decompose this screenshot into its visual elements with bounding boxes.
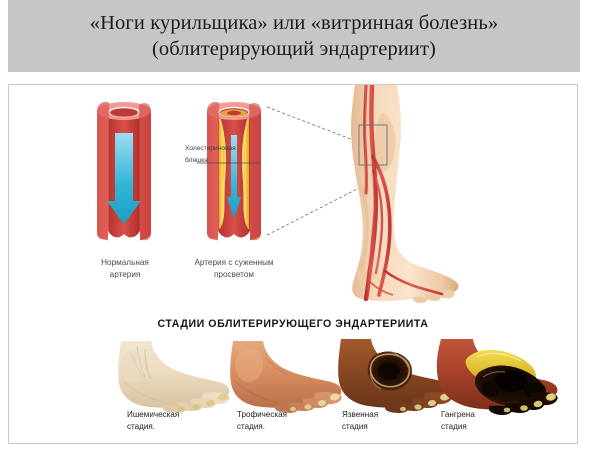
page-title: «Ноги курильщика» или «витринная болезнь… <box>80 10 508 62</box>
stage-ischemic-foot <box>107 337 235 415</box>
leg-graphic <box>309 85 509 323</box>
stage-gangrene-caption: Гангрена стадия <box>441 409 475 432</box>
stages-heading: СТАДИИ ОБЛИТЕРИРУЮЩЕГО ЭНДАРТЕРИИТА <box>9 318 577 330</box>
stage-gangrene-foot <box>427 333 562 417</box>
header-band: «Ноги курильщика» или «витринная болезнь… <box>8 0 580 72</box>
stage-ischemic-caption: Ишемическая стадия. <box>127 409 179 432</box>
cholesterol-plaque-label: Холестириновая бляшка <box>185 143 271 166</box>
stage-trophic-caption: Трофическая стадия. <box>237 409 287 432</box>
stage-ulcerative-caption: Язвенная стадия <box>342 409 378 432</box>
leg-illustration <box>309 85 509 323</box>
foot-graphic-ischemic <box>107 337 235 415</box>
foot-graphic-gangrene <box>427 333 562 417</box>
illustration-panel: Нормальная артерия <box>8 84 578 444</box>
ulcer-lesion <box>368 351 412 390</box>
